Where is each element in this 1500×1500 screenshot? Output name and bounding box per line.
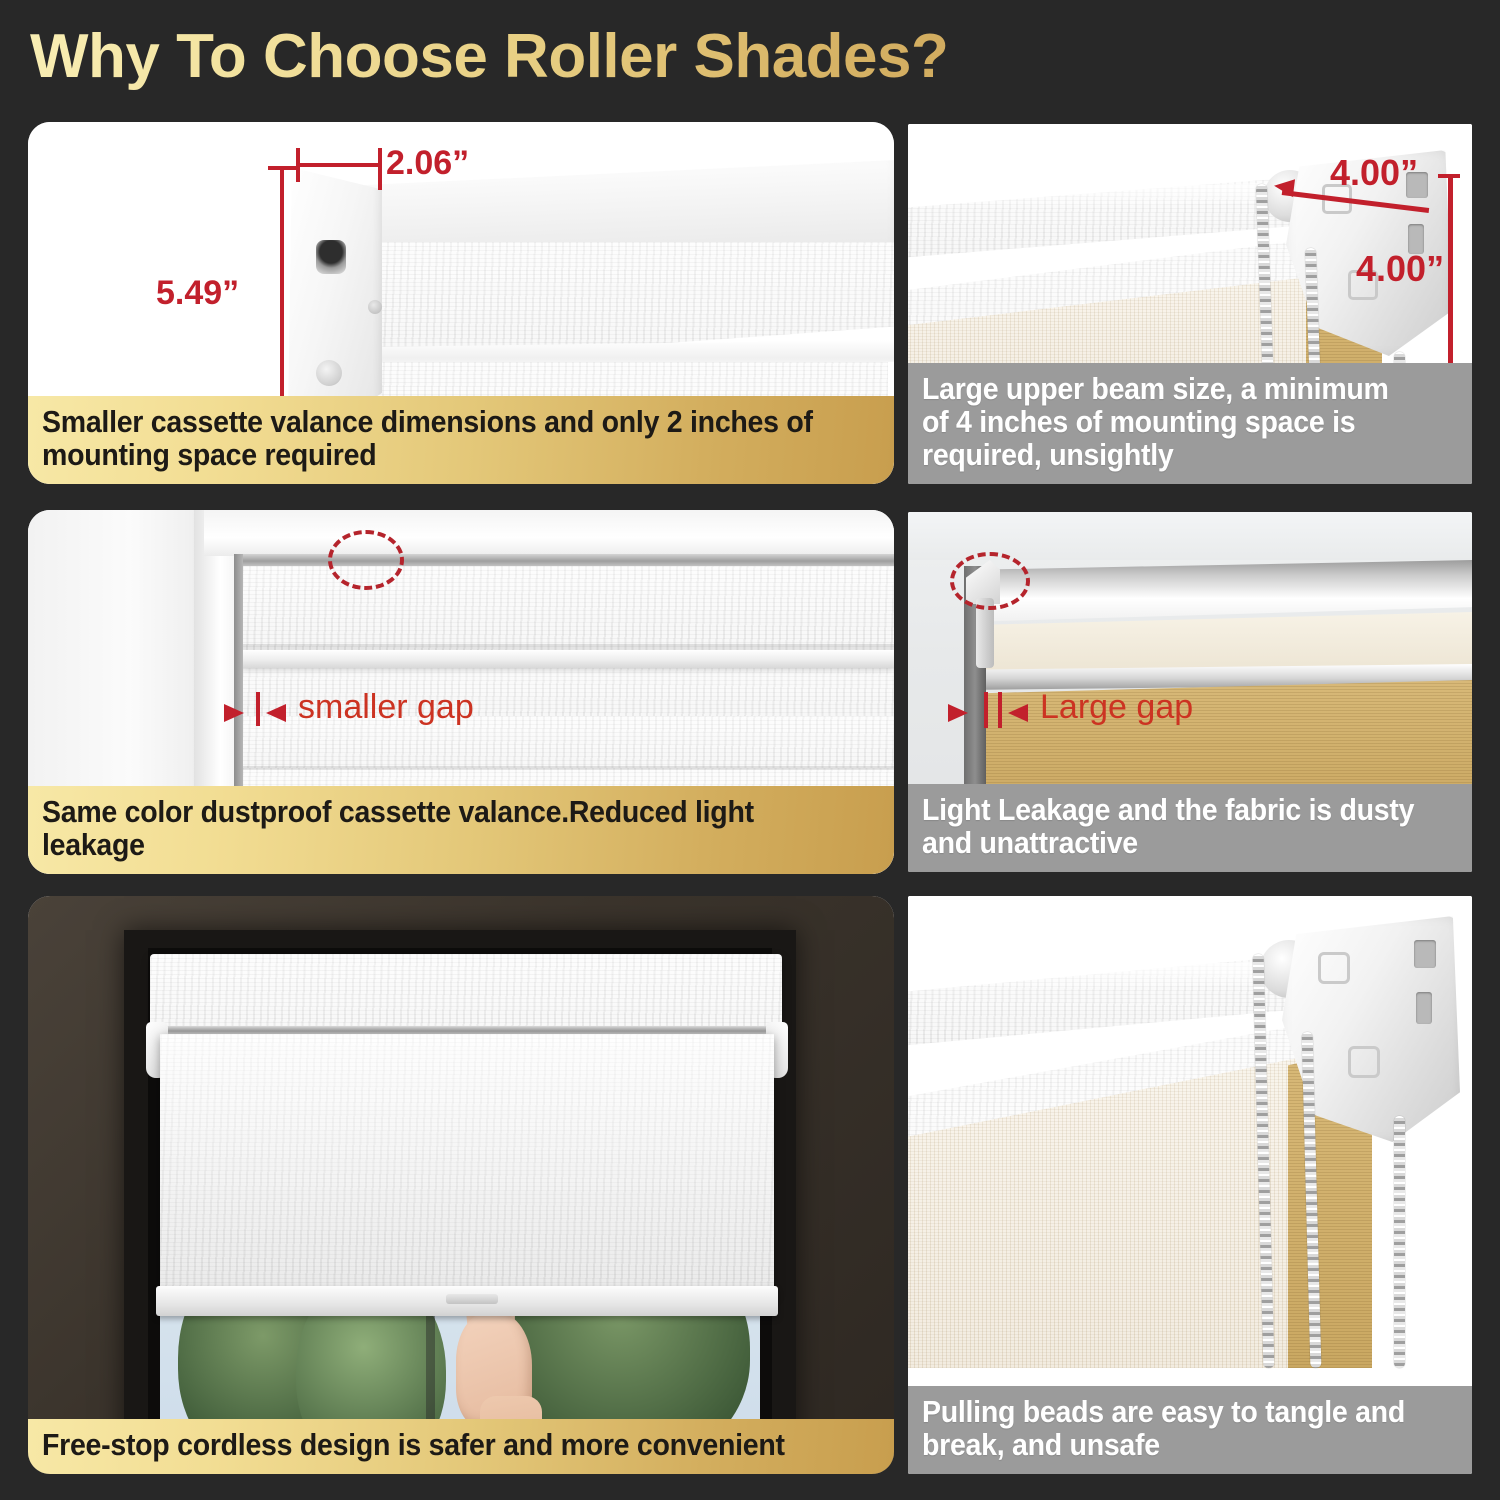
beam-width-arrow-left [1273, 177, 1295, 197]
large-gap-label: Large gap [1040, 688, 1193, 727]
smaller-gap-arrow-left [266, 704, 286, 722]
large-gap-tick-right [998, 692, 1002, 728]
width-dim-label: 2.06” [386, 144, 469, 183]
panel-5-photo [28, 896, 894, 1474]
end-cap-lower-screw [316, 360, 342, 386]
beam-height-dim-line [1448, 174, 1453, 376]
panel-2-caption: Large upper beam size, a minimum of 4 in… [908, 363, 1472, 484]
panel-1-caption: Smaller cassette valance dimensions and … [28, 396, 894, 484]
panel-4-caption-text: Light Leakage and the fabric is dusty an… [922, 794, 1415, 860]
shade-fabric-seam [242, 766, 894, 770]
large-gap-arrow-left [1008, 704, 1028, 722]
cassette-lip [242, 650, 894, 668]
panel-1-caption-text: Smaller cassette valance dimensions and … [42, 406, 813, 472]
pulling-bead-chain-right [1394, 1116, 1405, 1368]
panel-grid: 2.06” 5.49” Smaller cassette valance dim… [0, 0, 1500, 1500]
panel-light-leakage: Large gap Light Leakage and the fabric i… [908, 512, 1472, 872]
smaller-gap-tick [256, 692, 260, 726]
panel-5-caption: Free-stop cordless design is safer and m… [28, 1419, 894, 1474]
panel-pulling-beads: Pulling beads are easy to tangle and bre… [908, 896, 1472, 1474]
gap-highlight-ellipse [328, 530, 404, 590]
large-gap-arrow-right [948, 704, 968, 722]
beam-height-cap-top [1438, 174, 1460, 178]
panel-3-caption: Same color dustproof cassette valance.Re… [28, 786, 894, 874]
width-dim-line [298, 163, 380, 167]
panel-5-caption-text: Free-stop cordless design is safer and m… [42, 1429, 813, 1462]
panel-dustproof-cassette: smaller gap Same color dustproof cassett… [28, 510, 894, 874]
panel-6-caption-text: Pulling beads are easy to tangle and bre… [922, 1396, 1415, 1462]
panel-3-caption-text: Same color dustproof cassette valance.Re… [42, 796, 813, 862]
panel-large-upper-beam: 4.00” 4.00” Large upper beam size, a min… [908, 124, 1472, 484]
beam-width-dim-label: 4.00” [1330, 152, 1418, 194]
window-casing-top [204, 510, 894, 556]
head-rail-bar [966, 560, 1472, 622]
panel-4-caption: Light Leakage and the fabric is dusty an… [908, 784, 1472, 872]
panel-smaller-cassette: 2.06” 5.49” Smaller cassette valance dim… [28, 122, 894, 484]
bead-bracket-logo-lower [1348, 1046, 1380, 1078]
bottom-rail-handle [446, 1294, 498, 1304]
smaller-gap-label: smaller gap [298, 688, 474, 727]
leak-highlight-ellipse [950, 552, 1030, 610]
panel-cordless-design: Free-stop cordless design is safer and m… [28, 896, 894, 1474]
bead-bracket-slot-top [1414, 940, 1436, 968]
beam-height-dim-label: 4.00” [1356, 248, 1444, 290]
bead-bracket-slot-bottom [1416, 992, 1432, 1024]
height-dim-label: 5.49” [156, 274, 239, 313]
panel-2-caption-text: Large upper beam size, a minimum of 4 in… [922, 373, 1415, 472]
bead-bracket-logo-upper [1318, 952, 1350, 984]
large-gap-tick-left [984, 692, 988, 728]
end-cap-upper-slot [316, 240, 346, 274]
width-dim-tick-right [378, 148, 382, 190]
height-dim-cap-top [268, 166, 296, 170]
shade-fabric-tone [160, 1034, 774, 1294]
smaller-gap-arrow-right [224, 704, 244, 722]
width-dim-tick-left [296, 148, 300, 182]
end-cap-mid-screw [368, 300, 382, 314]
panel-6-caption: Pulling beads are easy to tangle and bre… [908, 1386, 1472, 1474]
